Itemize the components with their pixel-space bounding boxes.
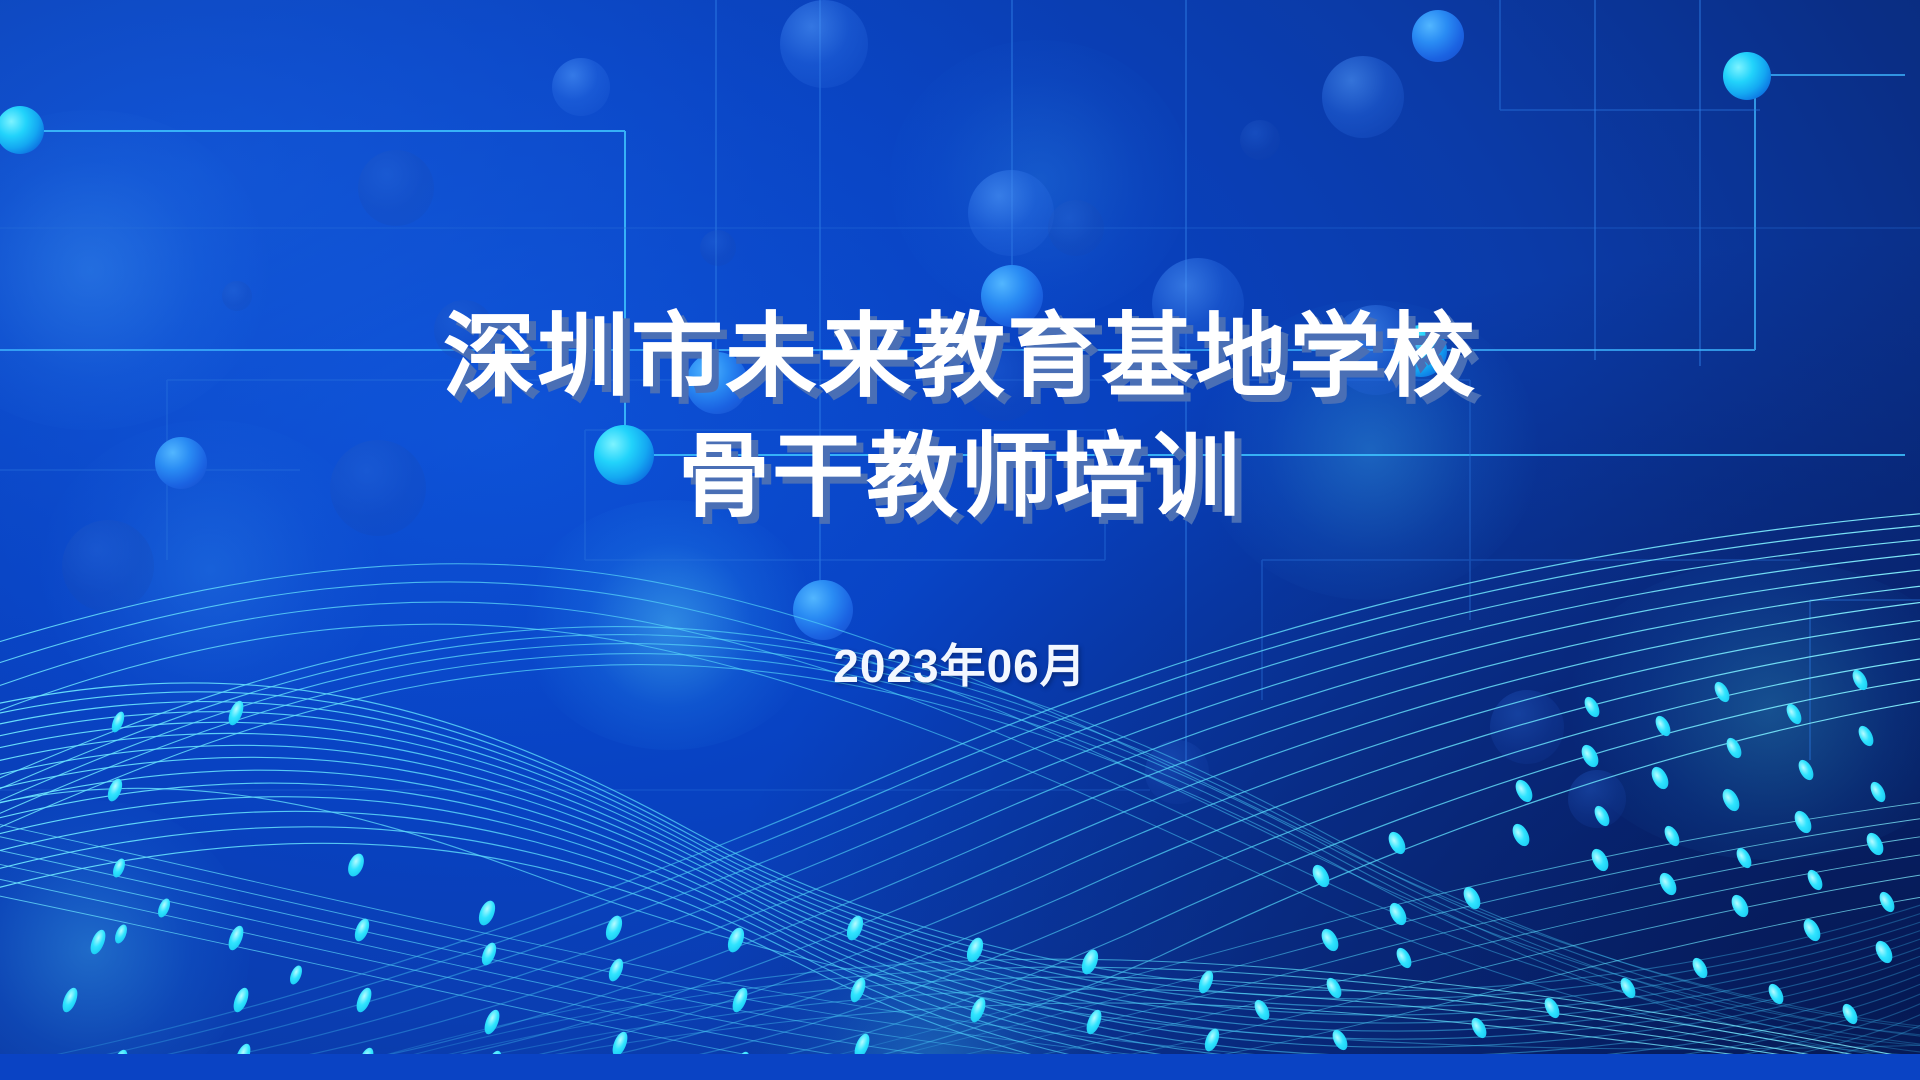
slide-date: 2023年06月 bbox=[0, 630, 1920, 696]
title-text-block: 深圳市未来教育基地学校 骨干教师培训 2023年06月 bbox=[0, 300, 1920, 696]
slide-title-line-1: 深圳市未来教育基地学校 bbox=[0, 300, 1920, 414]
title-slide: 深圳市未来教育基地学校 骨干教师培训 2023年06月 bbox=[0, 0, 1920, 1080]
cyan-dot-cluster-left bbox=[60, 699, 1222, 1079]
slide-title-line-2: 骨干教师培训 bbox=[0, 420, 1920, 534]
bottom-color-band bbox=[0, 1054, 1920, 1080]
